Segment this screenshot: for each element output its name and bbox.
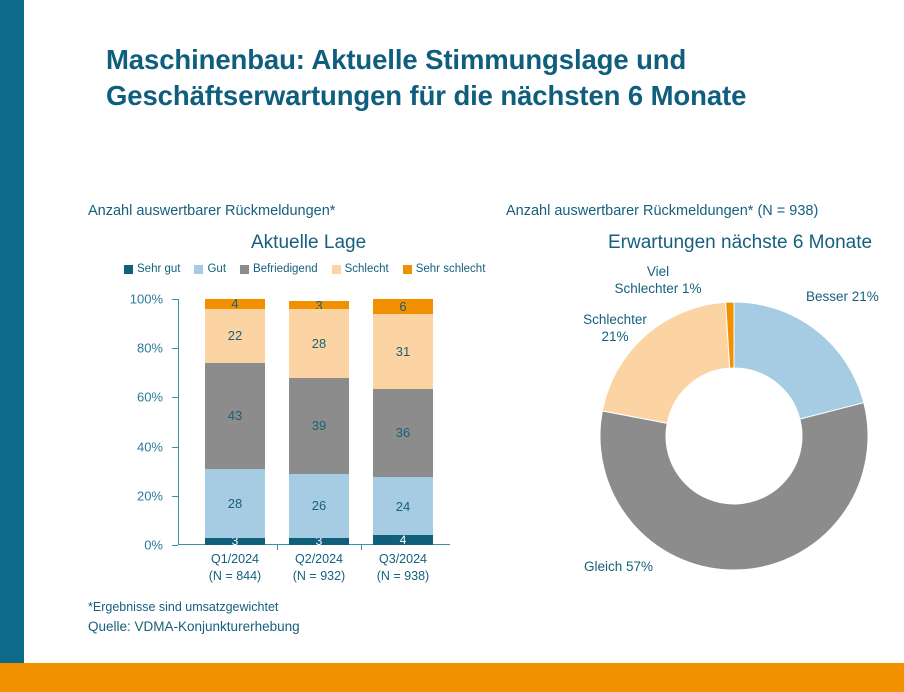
legend-label-sehr-gut: Sehr gut bbox=[137, 263, 180, 275]
y-axis-tick-label: 80% bbox=[137, 341, 163, 356]
x-axis-tick bbox=[361, 545, 362, 550]
donut-chart-heading: Erwartungen nächste 6 Monate bbox=[608, 232, 872, 254]
x-axis-tick bbox=[277, 545, 278, 550]
legend-swatch-sehr-schlecht bbox=[403, 265, 412, 274]
y-axis-tick: 80% bbox=[172, 348, 178, 349]
y-axis-tick-label: 60% bbox=[137, 390, 163, 405]
legend-item-sehr-schlecht: Sehr schlecht bbox=[403, 263, 486, 275]
bar-segment[interactable]: 39 bbox=[289, 378, 349, 474]
y-axis-tick: 100% bbox=[172, 299, 178, 300]
footnote-weighting: *Ergebnisse sind umsatzgewichtet bbox=[88, 597, 300, 617]
slide-canvas: Maschinenbau: Aktuelle Stimmungslage und… bbox=[0, 0, 904, 692]
donut-label-besser: Besser 21% bbox=[806, 288, 879, 305]
donut-chart-subheading: Anzahl auswertbarer Rückmeldungen* (N = … bbox=[506, 203, 818, 219]
y-axis-tick: 0% bbox=[172, 545, 178, 546]
bar-segment[interactable]: 28 bbox=[205, 469, 265, 538]
bar-chart-heading: Aktuelle Lage bbox=[251, 232, 366, 254]
donut-label-viel-schlechter-line1: Viel bbox=[647, 264, 669, 279]
donut-label-schlechter-line2: 21% bbox=[601, 329, 628, 344]
page-title-line-2: Geschäftserwartungen für die nächsten 6 … bbox=[106, 78, 876, 114]
y-axis-tick: 20% bbox=[172, 496, 178, 497]
donut-label-viel-schlechter-line2: Schlechter 1% bbox=[614, 281, 701, 296]
footnote-source: Quelle: VDMA-Konjunkturerhebung bbox=[88, 617, 300, 637]
bar-segment[interactable]: 4 bbox=[205, 299, 265, 309]
bar-segment[interactable]: 3 bbox=[289, 538, 349, 545]
bar-chart-subheading: Anzahl auswertbarer Rückmeldungen* bbox=[88, 203, 335, 219]
left-accent-bar bbox=[0, 0, 24, 692]
bar-column[interactable]: 32843224 bbox=[205, 299, 265, 545]
legend-swatch-schlecht bbox=[332, 265, 341, 274]
page-title: Maschinenbau: Aktuelle Stimmungslage und… bbox=[106, 42, 876, 114]
donut-slice[interactable] bbox=[734, 302, 864, 419]
donut-label-gleich: Gleich 57% bbox=[584, 558, 653, 575]
legend-swatch-sehr-gut bbox=[124, 265, 133, 274]
bar-segment[interactable]: 3 bbox=[205, 538, 265, 545]
bar-chart-legend: Sehr gut Gut Befriedigend Schlecht Sehr … bbox=[124, 263, 485, 275]
bar-segment[interactable]: 22 bbox=[205, 309, 265, 363]
donut-slice[interactable] bbox=[600, 403, 868, 570]
legend-label-schlecht: Schlecht bbox=[345, 263, 389, 275]
legend-swatch-befriedigend bbox=[240, 265, 249, 274]
bar-column[interactable]: 42436316 bbox=[373, 299, 433, 545]
footnotes: *Ergebnisse sind umsatzgewichtet Quelle:… bbox=[88, 597, 300, 637]
bar-segment[interactable]: 36 bbox=[373, 389, 433, 477]
bar-segment[interactable]: 24 bbox=[373, 477, 433, 535]
bar-column[interactable]: 32639283 bbox=[289, 299, 349, 545]
bottom-accent-bar bbox=[0, 663, 904, 692]
y-axis-tick: 60% bbox=[172, 397, 178, 398]
legend-label-gut: Gut bbox=[207, 263, 226, 275]
bar-segment[interactable]: 6 bbox=[373, 299, 433, 314]
y-axis-tick-label: 100% bbox=[130, 292, 163, 307]
bar-segment[interactable]: 4 bbox=[373, 535, 433, 545]
donut-label-schlechter: Schlechter 21% bbox=[573, 311, 657, 345]
legend-label-befriedigend: Befriedigend bbox=[253, 263, 318, 275]
category-count: (N = 938) bbox=[348, 568, 458, 585]
legend-label-sehr-schlecht: Sehr schlecht bbox=[416, 263, 486, 275]
bar-segment[interactable]: 31 bbox=[373, 314, 433, 390]
legend-item-schlecht: Schlecht bbox=[332, 263, 389, 275]
bar-segment[interactable]: 26 bbox=[289, 474, 349, 538]
page-title-line-1: Maschinenbau: Aktuelle Stimmungslage und bbox=[106, 42, 876, 78]
legend-item-befriedigend: Befriedigend bbox=[240, 263, 318, 275]
donut-label-schlechter-line1: Schlechter bbox=[583, 312, 647, 327]
legend-swatch-gut bbox=[194, 265, 203, 274]
bar-segment[interactable]: 28 bbox=[289, 309, 349, 378]
legend-item-gut: Gut bbox=[194, 263, 226, 275]
bar-segment[interactable]: 43 bbox=[205, 363, 265, 469]
y-axis-line bbox=[178, 299, 179, 545]
y-axis-tick-label: 40% bbox=[137, 439, 163, 454]
y-axis-tick: 40% bbox=[172, 447, 178, 448]
donut-label-viel-schlechter: Viel Schlechter 1% bbox=[588, 263, 728, 297]
category-name: Q3/2024 bbox=[348, 551, 458, 568]
legend-item-sehr-gut: Sehr gut bbox=[124, 263, 180, 275]
bar-segment[interactable]: 3 bbox=[289, 301, 349, 308]
y-axis-tick-label: 0% bbox=[144, 538, 163, 553]
y-axis-tick-label: 20% bbox=[137, 488, 163, 503]
bar-chart-plot-area: 0%20%40%60%80%100%32843224Q1/2024(N = 84… bbox=[178, 299, 450, 545]
x-axis-category-label: Q3/2024(N = 938) bbox=[348, 551, 458, 585]
